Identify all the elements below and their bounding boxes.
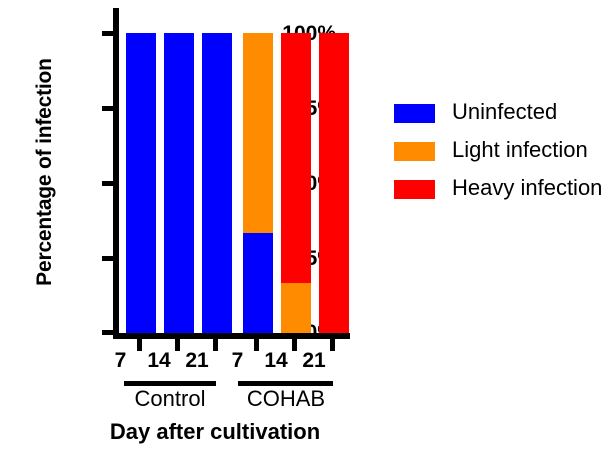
bar-segment-uninfected — [243, 233, 273, 333]
blue-square-swatch-icon — [394, 104, 435, 123]
y-tick-100 — [102, 31, 113, 36]
x-label-cohab-7: 7 — [220, 350, 255, 371]
legend-item-light-infection[interactable]: Light infection — [394, 133, 601, 171]
x-label-cohab-14: 14 — [257, 350, 295, 371]
y-tick-50 — [102, 181, 113, 186]
x-axis-title: Day after cultivation — [60, 419, 370, 445]
bar-segment-uninfected — [126, 33, 156, 333]
x-label-control-14: 14 — [140, 350, 178, 371]
x-label-control-7: 7 — [103, 350, 138, 371]
legend-item-heavy-infection[interactable]: Heavy infection — [394, 171, 601, 209]
bar-segment-heavy-infection — [319, 33, 349, 333]
x-label-cohab-21: 21 — [295, 350, 333, 371]
bar-cohab-14[interactable] — [281, 33, 311, 333]
group-label-control: Control — [115, 388, 225, 410]
red-square-swatch-icon — [394, 180, 435, 199]
legend-label-light-infection: Light infection — [452, 137, 588, 163]
bar-cohab-7[interactable] — [243, 33, 273, 333]
bars-layer — [119, 8, 350, 333]
legend: Uninfected Light infection Heavy infecti… — [394, 95, 601, 209]
bar-segment-light-infection — [281, 283, 311, 333]
stacked-bar-chart-figure: Percentage of infection 100% 75% 50% 25%… — [0, 0, 601, 450]
legend-label-heavy-infection: Heavy infection — [452, 175, 601, 201]
y-axis-title: Percentage of infection — [33, 22, 57, 322]
y-tick-0 — [102, 330, 113, 335]
bar-segment-light-infection — [243, 33, 273, 233]
bar-control-7[interactable] — [126, 33, 156, 333]
group-label-cohab: COHAB — [230, 388, 342, 410]
plot-area: 100% 75% 50% 25% 0% — [113, 8, 350, 333]
bar-segment-heavy-infection — [281, 33, 311, 283]
legend-item-uninfected[interactable]: Uninfected — [394, 95, 601, 133]
bar-segment-uninfected — [202, 33, 232, 333]
y-tick-75 — [102, 106, 113, 111]
bar-control-21[interactable] — [202, 33, 232, 333]
y-tick-25 — [102, 256, 113, 261]
bar-cohab-21[interactable] — [319, 33, 349, 333]
x-label-control-21: 21 — [178, 350, 216, 371]
bar-control-14[interactable] — [164, 33, 194, 333]
legend-label-uninfected: Uninfected — [452, 99, 557, 125]
orange-square-swatch-icon — [394, 142, 435, 161]
bar-segment-uninfected — [164, 33, 194, 333]
